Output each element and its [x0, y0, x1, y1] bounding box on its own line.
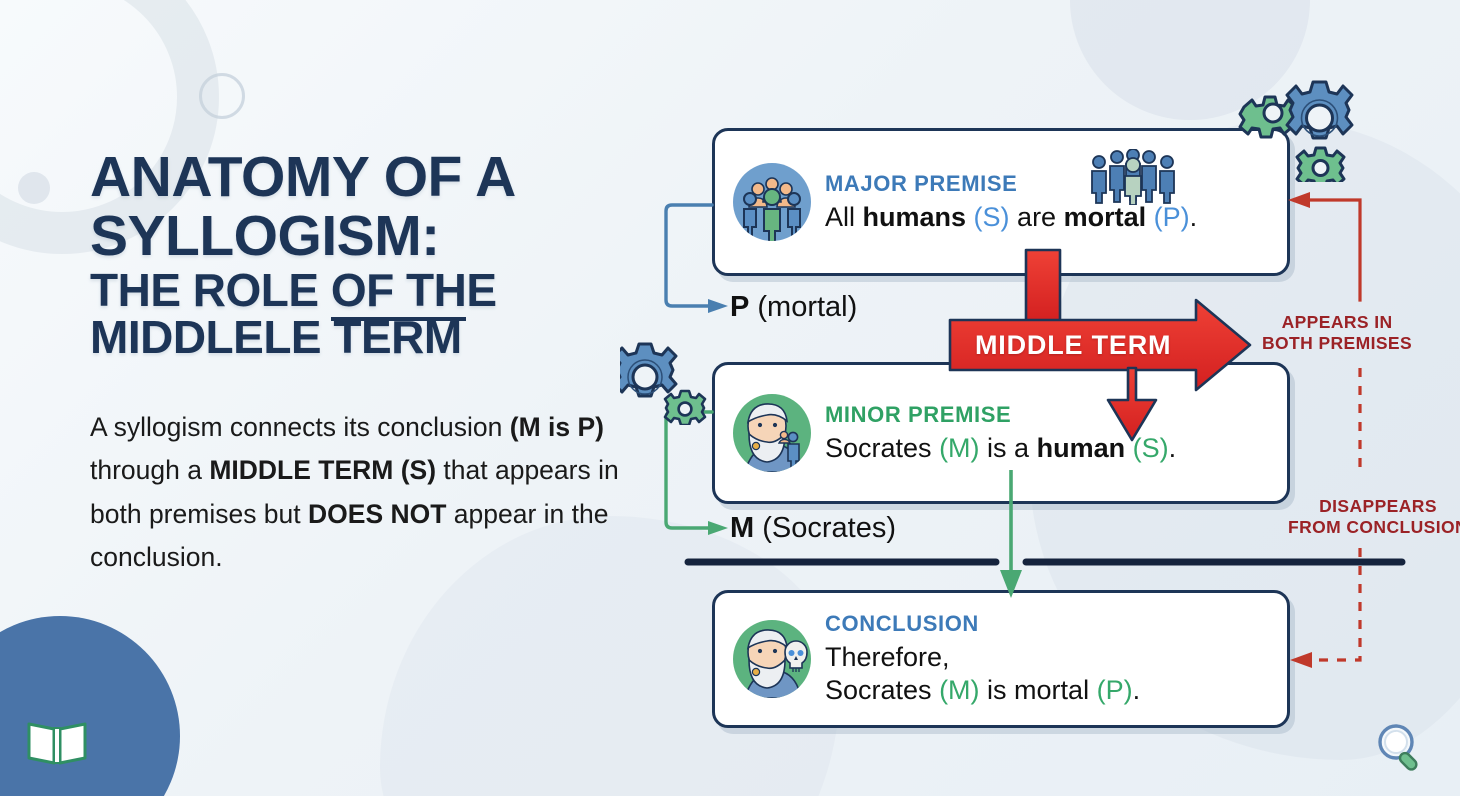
- token-subject: (S): [966, 202, 1010, 232]
- title-line-3-pre: THE ROLE: [90, 264, 331, 316]
- intro-bold-middle-term: MIDDLE TERM (S): [209, 455, 436, 485]
- card-major-text: MAJOR PREMISE All humans (S) are mortal …: [825, 171, 1269, 234]
- intro-text: through a: [90, 455, 209, 485]
- stmt-line-therefore: Therefore,: [825, 641, 1269, 674]
- card-heading-major: MAJOR PREMISE: [825, 171, 1269, 197]
- open-book-icon: [26, 716, 88, 766]
- card-minor-text: MINOR PREMISE Socrates (M) is a human (S…: [825, 402, 1269, 465]
- stmt-text: .: [1190, 202, 1198, 232]
- label-m-gloss: (Socrates): [754, 512, 896, 544]
- token-subject: (S): [1125, 433, 1169, 463]
- decor-corner-circle: [0, 616, 180, 796]
- stmt-text: .: [1169, 433, 1177, 463]
- socrates-portrait-icon: [733, 394, 811, 472]
- title-line-2: SYLLOGISM:: [90, 207, 650, 266]
- label-m-letter: M: [730, 512, 754, 544]
- card-statement-major: All humans (S) are mortal (P).: [825, 201, 1269, 234]
- crowd-icon: [1087, 149, 1179, 205]
- infographic-canvas: MAJOR PREMISE All humans (S) are mortal …: [0, 0, 1460, 796]
- left-column: ANATOMY OF A SYLLOGISM: THE ROLE OF THE …: [90, 148, 650, 579]
- note-line: BOTH PREMISES: [1262, 333, 1412, 354]
- token-middle: (M): [932, 675, 980, 705]
- title-line-4: MIDDLELE TERM: [90, 314, 650, 362]
- title-line-1: ANATOMY OF A: [90, 148, 650, 207]
- label-p-letter: P: [730, 291, 749, 323]
- note-appears-in-both-premises: APPEARS IN BOTH PREMISES: [1262, 312, 1412, 355]
- stmt-text: .: [1133, 675, 1141, 705]
- group-of-people-icon: [733, 163, 811, 241]
- note-line: DISAPPEARS: [1288, 496, 1460, 517]
- page-title: ANATOMY OF A SYLLOGISM: THE ROLE OF THE …: [90, 148, 650, 362]
- token-predicate: (P): [1089, 675, 1133, 705]
- socrates-portrait-icon: [733, 620, 811, 698]
- card-minor-premise[interactable]: MINOR PREMISE Socrates (M) is a human (S…: [712, 362, 1290, 504]
- middle-term-label: MIDDLE TERM: [975, 330, 1171, 361]
- title-line-3: THE ROLE OF THE: [90, 267, 650, 315]
- gear-icon: [620, 325, 710, 425]
- intro-paragraph: A syllogism connects its conclusion (M i…: [90, 406, 630, 579]
- stmt-line-socrates: Socrates (M) is mortal (P).: [825, 674, 1269, 707]
- magnifying-glass-icon: [1372, 718, 1428, 774]
- title-line-3-post: E: [466, 264, 496, 316]
- stmt-text: Socrates: [825, 675, 932, 705]
- label-middle-term-m: M (Socrates): [730, 512, 896, 545]
- stmt-bold: humans: [863, 202, 967, 232]
- card-heading-conclusion: CONCLUSION: [825, 611, 1269, 637]
- stmt-bold: human: [1037, 433, 1126, 463]
- label-major-term-p: P (mortal): [730, 291, 857, 324]
- card-major-premise[interactable]: MAJOR PREMISE All humans (S) are mortal …: [712, 128, 1290, 276]
- stmt-text: is mortal: [980, 675, 1090, 705]
- gear-icon: [1228, 62, 1368, 182]
- decor-dot: [18, 172, 50, 204]
- stmt-text: All: [825, 202, 863, 232]
- intro-bold-m-is-p: (M is P): [510, 412, 604, 442]
- card-conclusion-text: CONCLUSION Therefore, Socrates (M) is mo…: [825, 611, 1269, 707]
- note-disappears-from-conclusion: DISAPPEARS FROM CONCLUSION: [1288, 496, 1460, 539]
- label-p-gloss: (mortal): [749, 291, 857, 323]
- token-middle: (M): [932, 433, 980, 463]
- card-statement-minor: Socrates (M) is a human (S).: [825, 432, 1269, 465]
- intro-bold-does-not: DOES NOT: [308, 499, 446, 529]
- decor-ring-small: [199, 73, 245, 119]
- note-line: APPEARS IN: [1262, 312, 1412, 333]
- card-heading-minor: MINOR PREMISE: [825, 402, 1269, 428]
- stmt-text: Socrates: [825, 433, 932, 463]
- card-conclusion[interactable]: CONCLUSION Therefore, Socrates (M) is mo…: [712, 590, 1290, 728]
- stmt-text: is a: [980, 433, 1037, 463]
- card-statement-conclusion: Therefore, Socrates (M) is mortal (P).: [825, 641, 1269, 707]
- intro-text: A syllogism connects its conclusion: [90, 412, 510, 442]
- stmt-bold: mortal: [1064, 202, 1147, 232]
- note-line: FROM CONCLUSION: [1288, 517, 1460, 538]
- token-predicate: (P): [1146, 202, 1190, 232]
- stmt-text: are: [1010, 202, 1064, 232]
